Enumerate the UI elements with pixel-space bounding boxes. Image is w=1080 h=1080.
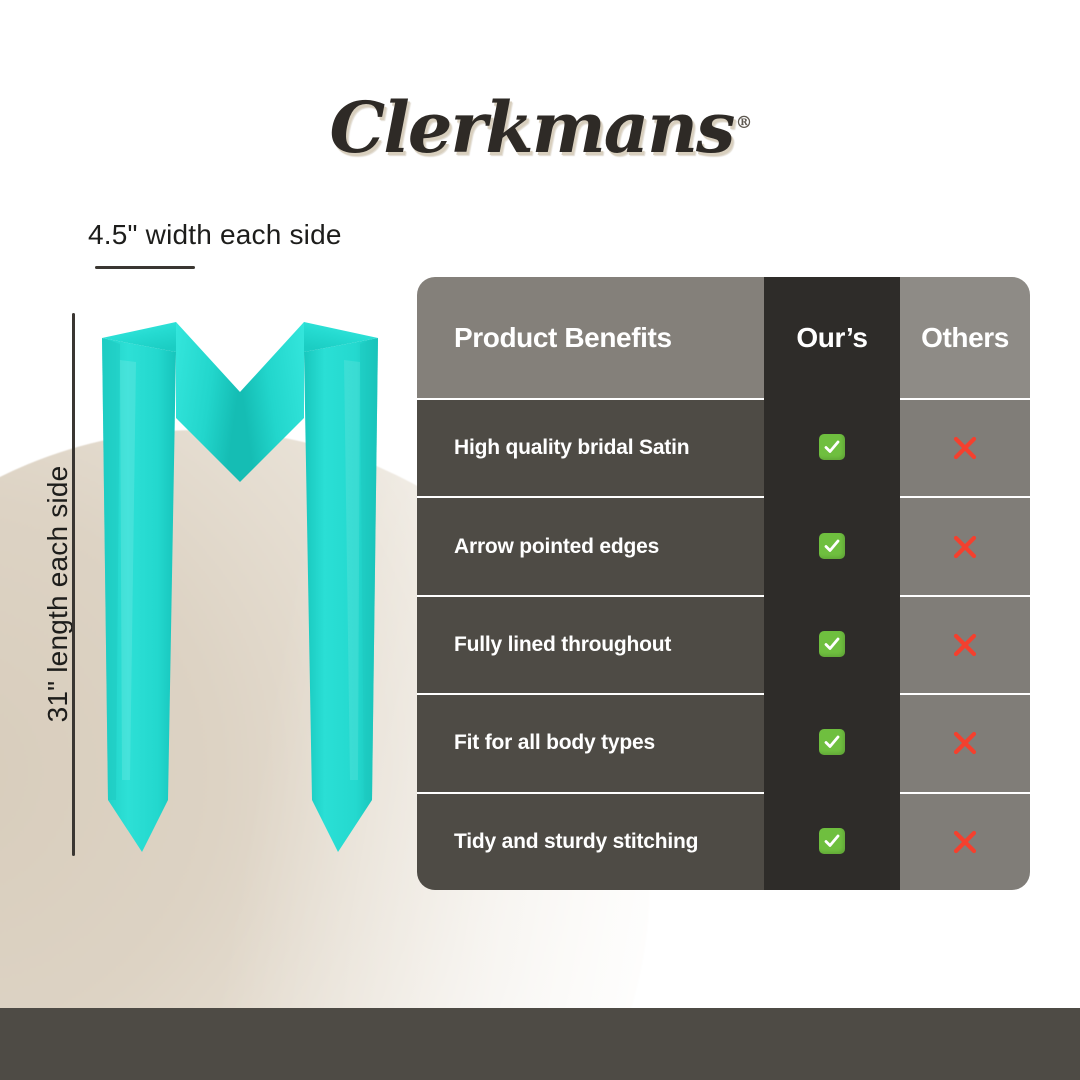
product-image-graduation-stole [80, 300, 400, 870]
brand-logo: Clerkmans® [0, 86, 1080, 169]
table-row: Fit for all body types [417, 693, 764, 791]
cross-mark-icon [950, 728, 980, 758]
stole-collar-right [240, 322, 304, 482]
width-dimension-label: 4.5" width each side [88, 219, 342, 251]
table-cell-ours [764, 398, 900, 496]
stole-left-panel [102, 338, 176, 852]
table-header-product-benefits: Product Benefits [417, 277, 764, 398]
table-header-others: Others [900, 277, 1030, 398]
table-cell-others [900, 693, 1030, 791]
product-comparison-table: Product Benefits Our’s Others High quali… [417, 277, 1030, 890]
table-row: Tidy and sturdy stitching [417, 792, 764, 890]
brand-logo-text: Clerkmans [330, 86, 734, 169]
table-cell-ours [764, 693, 900, 791]
table-cell-others [900, 398, 1030, 496]
table-cell-others [900, 595, 1030, 693]
stole-right-panel [304, 338, 378, 852]
check-mark-icon [819, 533, 845, 559]
table-cell-others [900, 496, 1030, 594]
table-cell-ours [764, 792, 900, 890]
check-mark-icon [819, 434, 845, 460]
table-row: High quality bridal Satin [417, 398, 764, 496]
cross-mark-icon [950, 433, 980, 463]
check-mark-icon [819, 828, 845, 854]
width-measure-line [95, 266, 195, 269]
stole-illustration [80, 300, 400, 870]
table-cell-ours [764, 595, 900, 693]
check-mark-icon [819, 631, 845, 657]
check-mark-icon [819, 729, 845, 755]
table-row: Fully lined throughout [417, 595, 764, 693]
infographic-canvas: Clerkmans® 4.5" width each side 31" leng… [0, 0, 1080, 1080]
table-header-ours: Our’s [764, 277, 900, 398]
table-cell-others [900, 792, 1030, 890]
table-row: Arrow pointed edges [417, 496, 764, 594]
footer-bar [0, 1008, 1080, 1080]
registered-trademark-icon: ® [735, 113, 750, 133]
length-measure-line [72, 313, 75, 856]
length-dimension-label: 31" length each side [42, 444, 74, 744]
cross-mark-icon [950, 532, 980, 562]
stole-collar-left [176, 322, 240, 482]
table-cell-ours [764, 496, 900, 594]
cross-mark-icon [950, 827, 980, 857]
cross-mark-icon [950, 630, 980, 660]
